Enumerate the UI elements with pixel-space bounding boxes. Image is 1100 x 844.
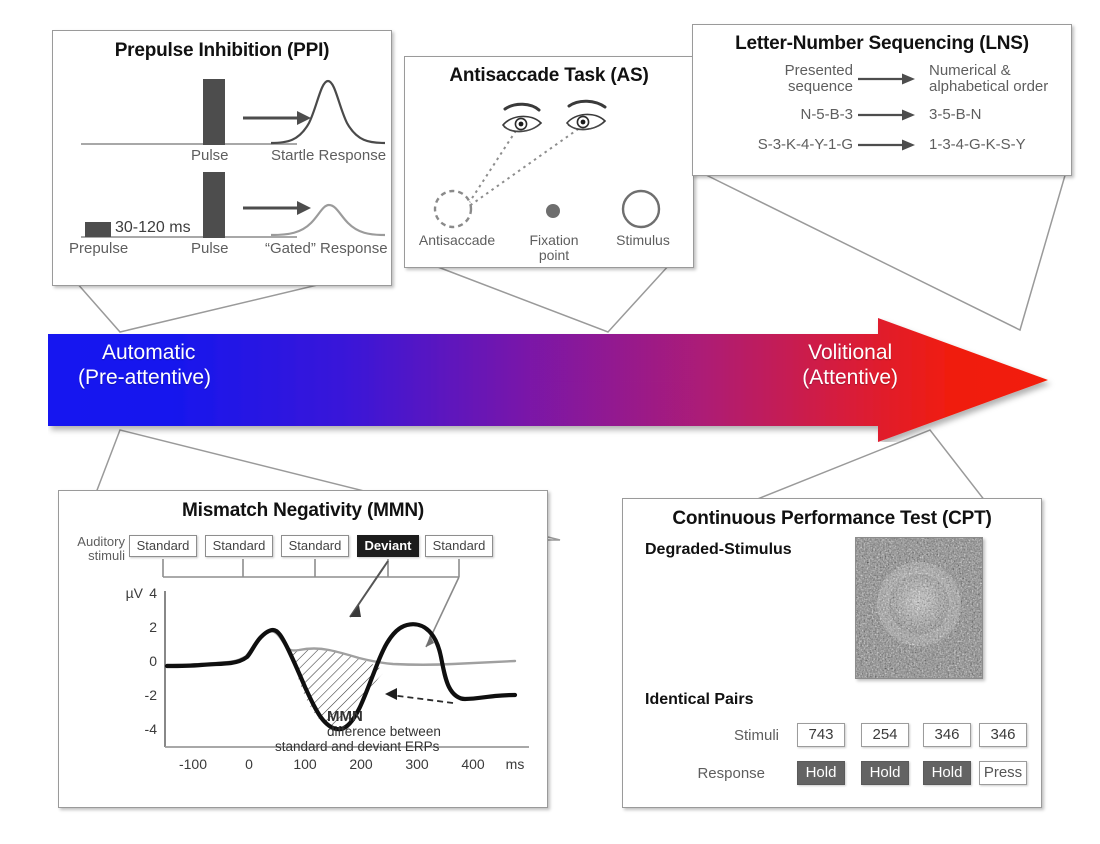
svg-text:4: 4	[149, 587, 157, 601]
mmn-auditory-stimuli-line1: Auditory	[77, 534, 125, 549]
as-label-stimulus: Stimulus	[605, 233, 681, 248]
svg-text:ms: ms	[506, 756, 525, 772]
ppi-prepulse-bar	[85, 222, 111, 237]
as-gaze-line-stimulus	[465, 127, 581, 209]
panel-prepulse-inhibition[interactable]: Prepulse Inhibition (PPI) Pulse Startle …	[52, 30, 392, 286]
fixation-point-dot	[546, 204, 560, 218]
mmn-stimulus-box-2[interactable]: Standard	[281, 535, 349, 557]
mmn-annotation-line1: difference between	[327, 724, 441, 739]
svg-text:-4: -4	[145, 721, 158, 737]
lns-header-presented-line2: sequence	[788, 78, 853, 95]
right-eye-icon	[567, 101, 605, 129]
ppi-bottom-pulse-bar	[203, 172, 225, 238]
mmn-stimulus-box-0[interactable]: Standard	[129, 535, 197, 557]
ppi-startle-response-label: Startle Response	[271, 147, 386, 164]
mmn-title: Mismatch Negativity (MMN)	[59, 500, 547, 522]
lns-header-arrow-icon	[853, 72, 919, 86]
ppi-gated-response-curve	[269, 193, 387, 239]
lns-header-ordered-line1: Numerical &	[929, 62, 1011, 79]
ppi-prepulse-label: Prepulse	[69, 240, 128, 257]
panel-antisaccade-task[interactable]: Antisaccade Task (AS)	[404, 56, 694, 268]
svg-text:200: 200	[349, 756, 373, 772]
lns-header-row: Presented sequence Numerical & alphabeti…	[703, 63, 1063, 95]
mmn-stimulus-box-1[interactable]: Standard	[205, 535, 273, 557]
cpt-title: Continuous Performance Test (CPT)	[623, 508, 1041, 530]
arrow-label-automatic-line1: Automatic	[78, 340, 211, 365]
panel-continuous-performance-test[interactable]: Continuous Performance Test (CPT) Degrad…	[622, 498, 1042, 808]
svg-text:µV: µV	[126, 587, 144, 601]
ppi-isi-label: 30-120 ms	[115, 219, 191, 237]
ppi-top-pulse-label: Pulse	[191, 147, 229, 164]
ppi-top-baseline	[81, 143, 297, 145]
cpt-identical-pairs-heading: Identical Pairs	[645, 691, 754, 709]
as-diagram	[405, 87, 695, 237]
lns-header-presented: Presented sequence	[703, 63, 853, 95]
lns-example-row: S-3-K-4-Y-1-G 1-3-4-G-K-S-Y	[703, 137, 1063, 153]
svg-text:300: 300	[405, 756, 429, 772]
mmn-stimulus-box-4[interactable]: Standard	[425, 535, 493, 557]
degraded-stimulus-noise	[856, 538, 982, 678]
stimulus-target-circle	[623, 191, 659, 227]
as-label-fixation-line2: point	[539, 247, 569, 263]
mmn-erp-chart: 4 2 0 -2 -4 µV -100 0 100 200 300 400 ms	[123, 587, 543, 787]
ppi-gated-response-label: “Gated” Response	[265, 240, 388, 257]
cpt-response-1[interactable]: Hold	[861, 761, 909, 785]
as-label-fixation-point: Fixation point	[519, 233, 589, 263]
arrow-label-volitional-line2: (Attentive)	[802, 365, 898, 390]
ppi-startle-response-curve	[269, 75, 387, 147]
antisaccade-target-circle	[435, 191, 471, 227]
figure-canvas: Automatic (Pre-attentive) Volitional (At…	[0, 0, 1100, 844]
arrow-label-volitional-line1: Volitional	[802, 340, 898, 365]
arrow-label-volitional: Volitional (Attentive)	[802, 340, 898, 390]
svg-text:-2: -2	[145, 687, 158, 703]
panel-mismatch-negativity[interactable]: Mismatch Negativity (MMN) Auditory stimu…	[58, 490, 548, 808]
arrow-label-automatic-line2: (Pre-attentive)	[78, 365, 211, 390]
cpt-degraded-stimulus-heading: Degraded-Stimulus	[645, 541, 792, 559]
mmn-annotation-line2: standard and deviant ERPs	[275, 739, 439, 754]
degraded-stimulus-image	[855, 537, 983, 679]
cpt-response-0[interactable]: Hold	[797, 761, 845, 785]
svg-text:0: 0	[149, 653, 157, 669]
mmn-annotation: MMN difference between standard and devi…	[327, 709, 547, 754]
cpt-stimulus-2[interactable]: 346	[923, 723, 971, 747]
lns-header-ordered-line2: alphabetical order	[929, 78, 1048, 95]
as-title: Antisaccade Task (AS)	[405, 65, 693, 87]
svg-text:0: 0	[245, 756, 253, 772]
mmn-stimulus-box-3-deviant[interactable]: Deviant	[357, 535, 419, 557]
cpt-response-2[interactable]: Hold	[923, 761, 971, 785]
cpt-response-3[interactable]: Press	[979, 761, 1027, 785]
lns-row-arrow-icon	[853, 138, 919, 152]
arrow-label-automatic: Automatic (Pre-attentive)	[78, 340, 211, 390]
cpt-stimulus-0[interactable]: 743	[797, 723, 845, 747]
mmn-annotation-title: MMN	[327, 708, 363, 725]
as-gaze-line-antisaccade	[465, 129, 517, 209]
lns-title: Letter-Number Sequencing (LNS)	[693, 33, 1071, 55]
ppi-top-pulse-bar	[203, 79, 225, 145]
lns-ordered-1: 1-3-4-G-K-S-Y	[919, 137, 1063, 153]
lns-presented-0: N-5-B-3	[703, 107, 853, 123]
lns-presented-1: S-3-K-4-Y-1-G	[703, 137, 853, 153]
lns-header-ordered: Numerical & alphabetical order	[919, 63, 1063, 95]
lns-row-arrow-icon	[853, 108, 919, 122]
svg-text:-100: -100	[179, 756, 207, 772]
svg-text:2: 2	[149, 619, 157, 635]
cpt-stimuli-row-label: Stimuli	[679, 727, 779, 744]
as-label-fixation-line1: Fixation	[529, 232, 578, 248]
ppi-title: Prepulse Inhibition (PPI)	[53, 40, 391, 62]
continuum-arrow: Automatic (Pre-attentive) Volitional (At…	[48, 318, 1058, 442]
as-label-antisaccade: Antisaccade	[409, 233, 505, 248]
svg-text:100: 100	[293, 756, 317, 772]
svg-text:400: 400	[461, 756, 485, 772]
mmn-annotation-pointer	[391, 695, 453, 703]
ppi-bottom-pulse-label: Pulse	[191, 240, 229, 257]
lns-ordered-0: 3-5-B-N	[919, 107, 1063, 123]
panel-letter-number-sequencing[interactable]: Letter-Number Sequencing (LNS) Presented…	[692, 24, 1072, 176]
lns-example-row: N-5-B-3 3-5-B-N	[703, 107, 1063, 123]
cpt-response-row-label: Response	[665, 765, 765, 782]
cpt-stimulus-3[interactable]: 346	[979, 723, 1027, 747]
cpt-stimulus-1[interactable]: 254	[861, 723, 909, 747]
left-eye-icon	[503, 104, 541, 131]
lns-header-presented-line1: Presented	[785, 62, 853, 79]
